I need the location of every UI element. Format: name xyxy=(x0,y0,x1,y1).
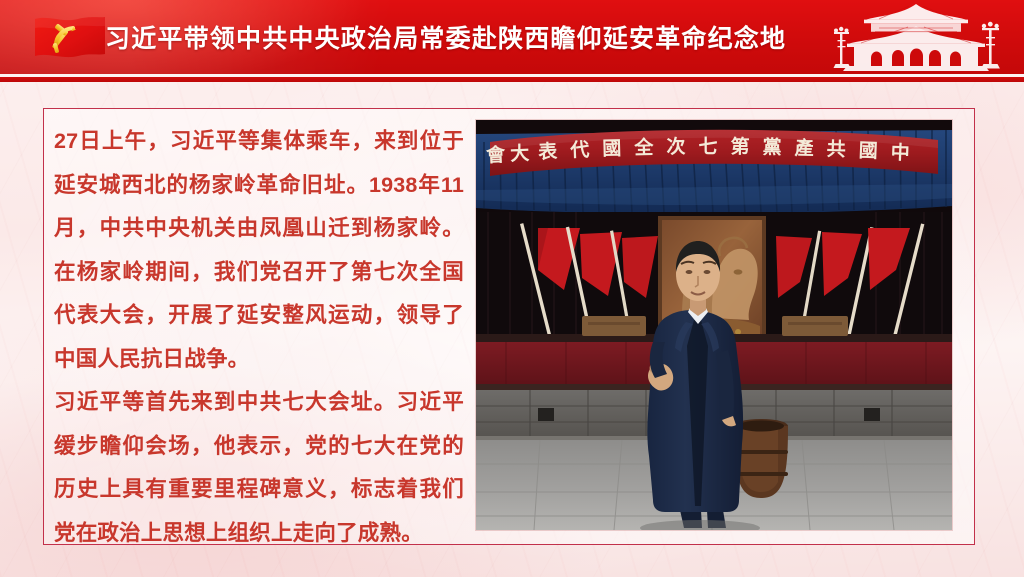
header-divider-red xyxy=(0,77,1024,82)
svg-text:代: 代 xyxy=(569,139,590,162)
slide-root: 习近平带领中共中央政治局常委赴陕西瞻仰延安革命纪念地 xyxy=(0,0,1024,577)
svg-text:第: 第 xyxy=(730,135,749,158)
paragraph-1: 27日上午，习近平等集体乘车，来到位于延安城西北的杨家岭革命旧址。1938年11… xyxy=(54,120,464,381)
svg-text:會: 會 xyxy=(486,143,507,167)
svg-text:產: 產 xyxy=(794,136,814,159)
svg-text:國: 國 xyxy=(602,138,622,160)
article-text-column: 27日上午，习近平等集体乘车，来到位于延安城西北的杨家岭革命旧址。1938年11… xyxy=(54,120,464,530)
tiananmen-gate-icon xyxy=(813,2,1018,74)
svg-text:大: 大 xyxy=(510,141,530,165)
svg-text:次: 次 xyxy=(666,135,685,158)
cpc-party-flag-icon xyxy=(33,14,107,62)
page-title: 习近平带领中共中央政治局常委赴陕西瞻仰延安革命纪念地 xyxy=(105,0,786,74)
photo-illustration: 中 國 共 產 黨 第 七 次 全 國 代 表 大 會 xyxy=(476,120,952,530)
svg-text:全: 全 xyxy=(633,136,654,159)
svg-text:七: 七 xyxy=(698,136,717,158)
svg-text:黨: 黨 xyxy=(762,135,781,158)
svg-text:國: 國 xyxy=(858,140,878,163)
header-bar: 习近平带领中共中央政治局常委赴陕西瞻仰延安革命纪念地 xyxy=(0,0,1024,74)
xi-jinping-at-seventh-congress-hall-photo: 中 國 共 產 黨 第 七 次 全 國 代 表 大 會 xyxy=(476,120,952,530)
svg-text:共: 共 xyxy=(826,138,846,161)
svg-text:中: 中 xyxy=(890,141,910,165)
svg-text:表: 表 xyxy=(538,140,559,164)
paragraph-2: 习近平等首先来到中共七大会址。习近平缓步瞻仰会场，他表示，党的七大在党的历史上具… xyxy=(54,381,464,555)
